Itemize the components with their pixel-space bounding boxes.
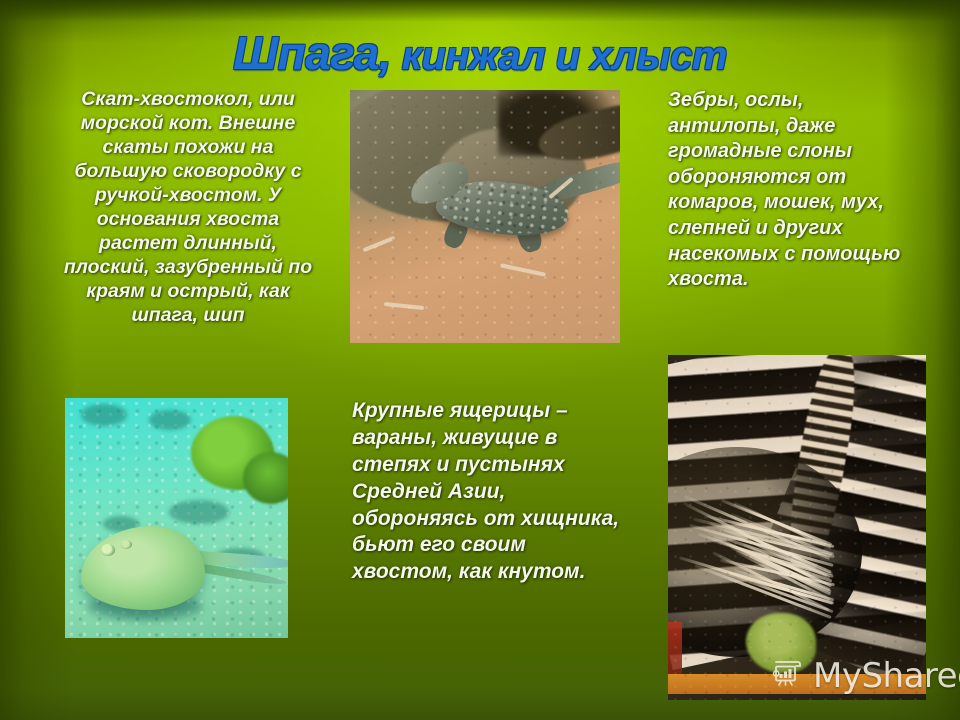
myshared-watermark: MyShared	[772, 656, 960, 696]
seabed-patch	[149, 410, 191, 430]
stingray-eye-right	[121, 540, 132, 549]
title-part-one: Шпага,	[233, 27, 391, 79]
stingray-eye-left	[101, 544, 115, 556]
seabed-patch	[169, 500, 229, 524]
photo-stingray	[65, 398, 288, 638]
photo-zebra	[668, 355, 926, 700]
seabed-patch	[81, 404, 127, 426]
title-part-two: кинжал и хлыст	[391, 34, 727, 78]
caption-stingray: Скат-хвостокол, или морской кот. Внешне …	[62, 88, 314, 328]
caption-lizard: Крупные ящерицы – вараны, живущие в степ…	[352, 398, 620, 586]
photo-lizard	[350, 90, 620, 343]
photo-grain-texture	[668, 355, 926, 700]
sand-grain-texture	[350, 90, 620, 343]
presentation-chart-icon	[772, 657, 806, 696]
slide-canvas: Шпага, кинжал и хлыст Скат-хвостокол, ил…	[0, 0, 960, 720]
myshared-label: MyShared	[813, 656, 960, 696]
page-title: Шпага, кинжал и хлыст	[0, 30, 960, 76]
caption-zebra: Зебры, ослы, антилопы, даже громадные сл…	[668, 88, 920, 293]
